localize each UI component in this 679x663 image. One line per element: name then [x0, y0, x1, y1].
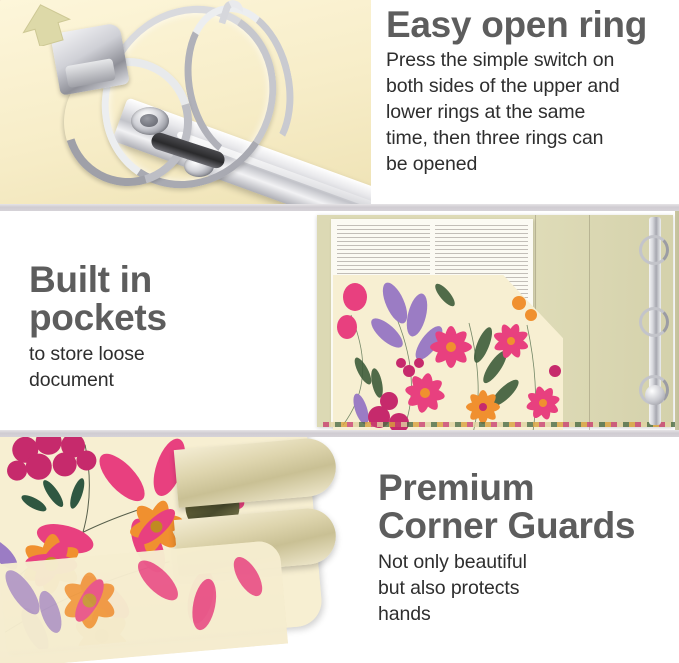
subcopy-built-in-pockets: to store loose document — [29, 342, 329, 394]
ring-mechanism-photo — [0, 0, 371, 204]
open-binder-photo — [311, 211, 679, 430]
panel-built-in-pockets: Built in pockets to store loose document — [0, 211, 679, 430]
arrow-up-icon — [18, 2, 74, 46]
cover-fold-line-2 — [589, 215, 590, 430]
ring-release-knob — [645, 385, 665, 405]
cover-printed-edge — [323, 422, 679, 427]
feature-text-premium-corner-guards: Premium Corner Guards Not only beautiful… — [378, 469, 674, 628]
binder-spine-edge — [675, 211, 679, 430]
binder-ring-2 — [639, 307, 669, 337]
binder-interior-board — [317, 215, 673, 427]
feature-text-easy-open-ring: Easy open ring Press the simple switch o… — [386, 6, 674, 178]
headline-premium-corner-guards: Premium Corner Guards — [378, 469, 674, 546]
headline-built-in-pockets: Built in pockets — [29, 261, 329, 338]
feature-text-built-in-pockets: Built in pockets to store loose document — [29, 261, 329, 394]
panel-divider-top — [0, 204, 679, 211]
ring-rivet-upper — [131, 107, 169, 135]
binder-ring-1 — [639, 235, 669, 265]
product-feature-infographic: Easy open ring Press the simple switch o… — [0, 0, 679, 663]
panel-easy-open-ring: Easy open ring Press the simple switch o… — [0, 0, 679, 204]
corner-guard-photo — [0, 437, 372, 663]
panel-premium-corner-guards: Premium Corner Guards Not only beautiful… — [0, 437, 679, 663]
panel-divider-bottom — [0, 430, 679, 437]
subcopy-easy-open-ring: Press the simple switch on both sides of… — [386, 48, 674, 178]
binder-ring-assembly — [633, 217, 677, 425]
corner-guard-upper — [174, 437, 338, 508]
headline-easy-open-ring: Easy open ring — [386, 6, 674, 44]
subcopy-premium-corner-guards: Not only beautiful but also protects han… — [378, 550, 674, 628]
